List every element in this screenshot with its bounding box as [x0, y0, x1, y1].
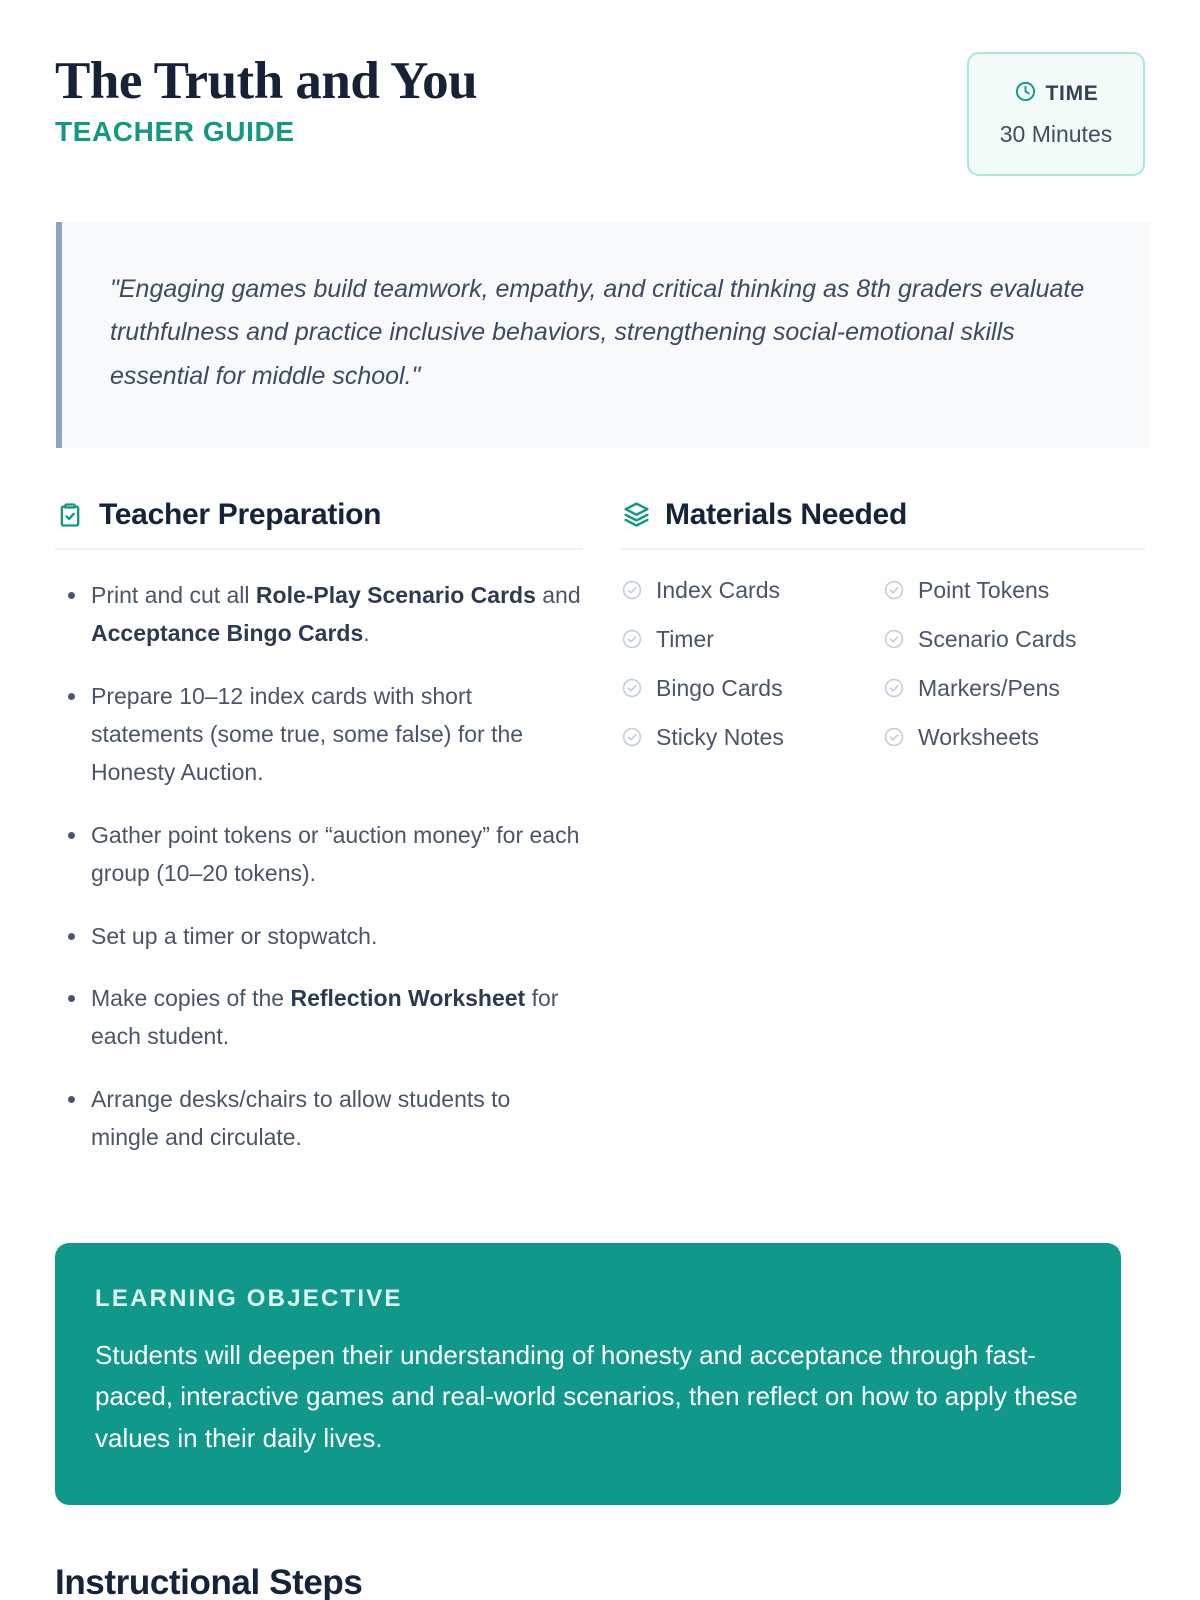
material-item: Sticky Notes	[621, 724, 883, 751]
circle-check-icon	[621, 726, 643, 748]
list-item: Prepare 10–12 index cards with short sta…	[55, 677, 583, 792]
materials-grid: Index Cards Point Tokens	[621, 577, 1145, 751]
list-item: Make copies of the Reflection Worksheet …	[55, 979, 583, 1056]
quote-text: "Engaging games build teamwork, empathy,…	[110, 268, 1106, 398]
teacher-preparation-heading: Teacher Preparation	[99, 498, 381, 532]
teacher-preparation-header: Teacher Preparation	[55, 498, 583, 550]
page-header: The Truth and You TEACHER GUIDE TIME 30 …	[55, 0, 1145, 176]
material-label: Point Tokens	[918, 577, 1049, 604]
circle-check-icon	[883, 726, 905, 748]
material-label: Sticky Notes	[656, 724, 784, 751]
material-label: Timer	[656, 626, 714, 653]
clipboard-check-icon	[55, 500, 85, 530]
materials-needed-section: Materials Needed Index Cards	[621, 498, 1145, 1181]
material-item: Bingo Cards	[621, 675, 883, 702]
teacher-preparation-section: Teacher Preparation Print and cut all Ro…	[55, 498, 583, 1181]
time-badge-value: 30 Minutes	[987, 121, 1125, 148]
learning-objective-text: Students will deepen their understanding…	[95, 1335, 1081, 1460]
clock-icon	[1014, 80, 1037, 108]
time-badge: TIME 30 Minutes	[967, 52, 1145, 176]
teacher-guide-page: The Truth and You TEACHER GUIDE TIME 30 …	[0, 0, 1200, 1600]
list-item: Set up a timer or stopwatch.	[55, 917, 583, 955]
circle-check-icon	[621, 579, 643, 601]
circle-check-icon	[883, 579, 905, 601]
list-item: Print and cut all Role-Play Scenario Car…	[55, 576, 583, 653]
material-item: Markers/Pens	[883, 675, 1145, 702]
time-badge-label: TIME	[1046, 82, 1099, 106]
material-label: Bingo Cards	[656, 675, 783, 702]
teacher-preparation-list: Print and cut all Role-Play Scenario Car…	[55, 576, 583, 1157]
material-item: Point Tokens	[883, 577, 1145, 604]
quote-block: "Engaging games build teamwork, empathy,…	[56, 222, 1150, 448]
material-label: Scenario Cards	[918, 626, 1077, 653]
instructional-steps-heading: Instructional Steps	[55, 1563, 1145, 1600]
material-item: Worksheets	[883, 724, 1145, 751]
material-label: Markers/Pens	[918, 675, 1060, 702]
circle-check-icon	[621, 677, 643, 699]
time-badge-header: TIME	[987, 80, 1125, 108]
two-column-section: Teacher Preparation Print and cut all Ro…	[55, 498, 1145, 1181]
title-block: The Truth and You TEACHER GUIDE	[55, 52, 477, 148]
learning-objective-label: LEARNING OBJECTIVE	[95, 1285, 1081, 1313]
material-item: Index Cards	[621, 577, 883, 604]
materials-needed-header: Materials Needed	[621, 498, 1145, 550]
material-item: Timer	[621, 626, 883, 653]
page-subtitle: TEACHER GUIDE	[55, 116, 477, 148]
material-label: Index Cards	[656, 577, 780, 604]
circle-check-icon	[883, 628, 905, 650]
layers-icon	[621, 500, 651, 530]
list-item: Gather point tokens or “auction money” f…	[55, 816, 583, 893]
list-item: Arrange desks/chairs to allow students t…	[55, 1080, 583, 1157]
material-label: Worksheets	[918, 724, 1039, 751]
circle-check-icon	[883, 677, 905, 699]
learning-objective-banner: LEARNING OBJECTIVE Students will deepen …	[55, 1243, 1121, 1506]
materials-needed-heading: Materials Needed	[665, 498, 907, 532]
material-item: Scenario Cards	[883, 626, 1145, 653]
instructional-steps-section: Instructional Steps	[55, 1563, 1145, 1600]
page-title: The Truth and You	[55, 54, 477, 109]
circle-check-icon	[621, 628, 643, 650]
